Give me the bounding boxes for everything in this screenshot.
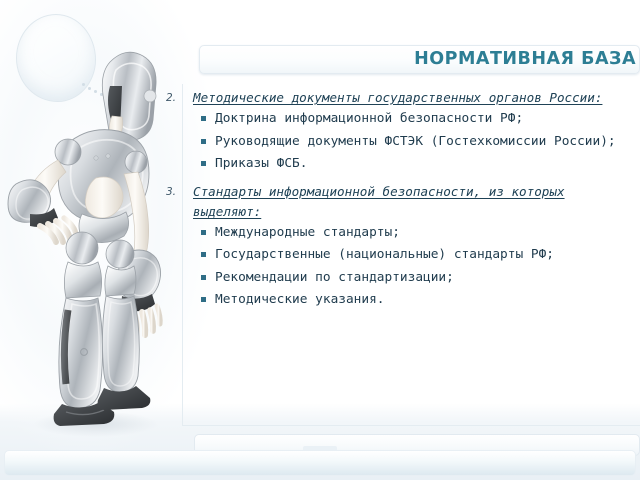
list-item: Государственные (национальные) стандарты… bbox=[200, 244, 622, 266]
list-item: Руководящие документы ФСТЭК (Гостехкомис… bbox=[200, 131, 622, 153]
block-number: 2. bbox=[152, 92, 176, 104]
list-item: Доктрина информационной безопасности РФ; bbox=[200, 108, 622, 130]
block-number: 3. bbox=[152, 186, 176, 198]
footer-bar bbox=[4, 450, 636, 476]
bullet-list: Международные стандарты; Государственные… bbox=[182, 222, 640, 311]
list-item: Приказы ФСБ. bbox=[200, 153, 622, 175]
list-item: Международные стандарты; bbox=[200, 222, 622, 244]
list-item: Рекомендации по стандартизации; bbox=[200, 267, 622, 289]
robot-illustration bbox=[0, 0, 200, 460]
block-heading: Методические документы государственных о… bbox=[182, 88, 640, 108]
slide-canvas: НОРМАТИВНАЯ БАЗА 2. Методические докумен… bbox=[0, 0, 640, 480]
page-title: НОРМАТИВНАЯ БАЗА bbox=[199, 45, 636, 74]
content-body: 2. Методические документы государственны… bbox=[182, 88, 640, 312]
numbered-block: 2. Методические документы государственны… bbox=[182, 88, 640, 175]
block-heading: Стандарты информационной безопасности, и… bbox=[182, 182, 640, 222]
list-item: Методические указания. bbox=[200, 289, 622, 311]
numbered-block: 3. Стандарты информационной безопасности… bbox=[182, 182, 640, 311]
bullet-list: Доктрина информационной безопасности РФ;… bbox=[182, 108, 640, 175]
